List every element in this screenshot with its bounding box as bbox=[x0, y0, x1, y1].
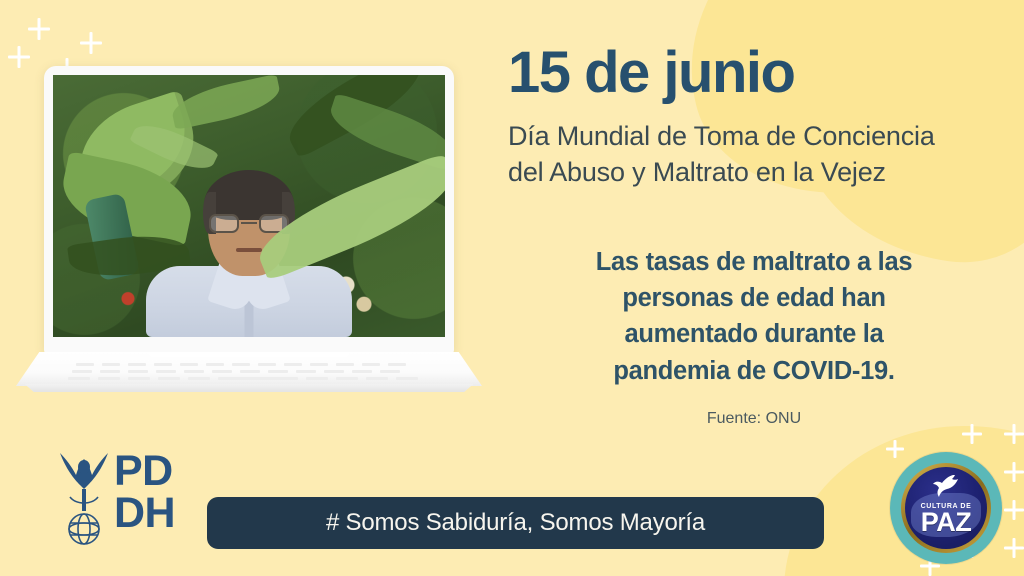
keyboard-row bbox=[16, 370, 482, 373]
sparkle-icon bbox=[1004, 462, 1024, 482]
sparkle-icon bbox=[886, 440, 904, 458]
quote-source: Fuente: ONU bbox=[548, 410, 960, 428]
sparkle-icon bbox=[962, 424, 982, 444]
sparkle-icon bbox=[80, 32, 102, 54]
eyeglasses-icon bbox=[209, 214, 289, 234]
laptop-lid bbox=[44, 66, 454, 354]
cultura-de-paz-badge: CULTURA DE PAZ bbox=[890, 452, 1002, 564]
subtitle-line-2: del Abuso y Maltrato en la Vejez bbox=[508, 155, 1008, 191]
page-title: 15 de junio bbox=[508, 44, 794, 102]
keyboard-row bbox=[16, 363, 482, 366]
hair bbox=[204, 170, 294, 220]
lens-left bbox=[209, 214, 239, 233]
decorative-blob-top-right bbox=[654, 0, 1024, 228]
sparkle-icon bbox=[1004, 538, 1024, 558]
laptop-hinge-notch bbox=[149, 352, 349, 357]
pddh-logo: PD DH bbox=[56, 449, 196, 553]
mouth bbox=[236, 248, 262, 252]
hashtag-banner: # Somos Sabiduría, Somos Mayoría bbox=[207, 497, 824, 549]
laptop-base bbox=[16, 352, 482, 394]
poster-canvas: 15 de junio Día Mundial de Toma de Conci… bbox=[0, 0, 1024, 576]
dove-icon bbox=[931, 473, 961, 499]
keyboard-row bbox=[16, 377, 482, 380]
laptop-screen bbox=[53, 75, 445, 337]
sparkle-icon bbox=[28, 18, 50, 40]
quote-line-1: Las tasas de maltrato a las bbox=[548, 244, 960, 280]
globe-icon bbox=[56, 449, 112, 553]
page-subtitle: Día Mundial de Toma de Conciencia del Ab… bbox=[508, 119, 1008, 190]
badge-main-label: PAZ bbox=[905, 509, 987, 536]
sparkle-icon bbox=[1004, 500, 1024, 520]
pddh-wordmark: PD DH bbox=[114, 451, 175, 534]
badge-core: CULTURA DE PAZ bbox=[905, 467, 987, 549]
subtitle-line-1: Día Mundial de Toma de Conciencia bbox=[508, 119, 1008, 155]
laptop-illustration bbox=[16, 66, 482, 396]
laptop-front-edge bbox=[20, 384, 478, 392]
portrait-photo bbox=[53, 75, 445, 337]
glasses-bridge bbox=[241, 222, 257, 224]
quote-text: Las tasas de maltrato a las personas de … bbox=[548, 244, 960, 389]
hashtag-label: # Somos Sabiduría, Somos Mayoría bbox=[326, 509, 705, 537]
laptop-keyboard-deck bbox=[16, 352, 482, 386]
quote-line-3: aumentado durante la bbox=[548, 316, 960, 352]
pddh-line-2: DH bbox=[114, 493, 175, 535]
pddh-line-1: PD bbox=[114, 451, 175, 493]
leaf-shape bbox=[168, 75, 283, 131]
quote-line-4: pandemia de COVID-19. bbox=[548, 353, 960, 389]
sparkle-icon bbox=[1004, 424, 1024, 444]
sparkle-icon bbox=[8, 46, 30, 68]
quote-line-2: personas de edad han bbox=[548, 280, 960, 316]
